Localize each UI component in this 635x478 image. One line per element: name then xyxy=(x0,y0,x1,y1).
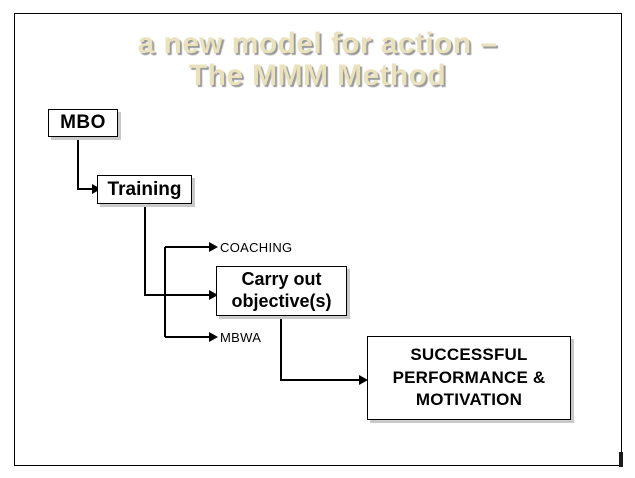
frame-corner-mark xyxy=(619,452,623,467)
connector-branch-to-mbwa xyxy=(165,332,218,342)
node-mbo[interactable]: MBO xyxy=(48,109,118,137)
connector-carry-out-to-successful xyxy=(281,317,368,385)
label-coaching: COACHING xyxy=(220,240,292,255)
node-training[interactable]: Training xyxy=(97,175,192,204)
node-successful-performance-motivation[interactable]: SUCCESSFUL PERFORMANCE & MOTIVATION xyxy=(367,336,571,420)
connector-training-trunk xyxy=(145,204,165,295)
node-carry-out-objectives[interactable]: Carry out objective(s) xyxy=(216,266,347,316)
connector-branch-to-coaching xyxy=(165,242,218,252)
label-mbwa: MBWA xyxy=(220,330,261,345)
slide-canvas: a new model for action – The MMM Method xyxy=(0,0,635,478)
page-title: a new model for action – The MMM Method xyxy=(0,28,635,93)
connector-branch-to-carry-out xyxy=(165,290,218,300)
